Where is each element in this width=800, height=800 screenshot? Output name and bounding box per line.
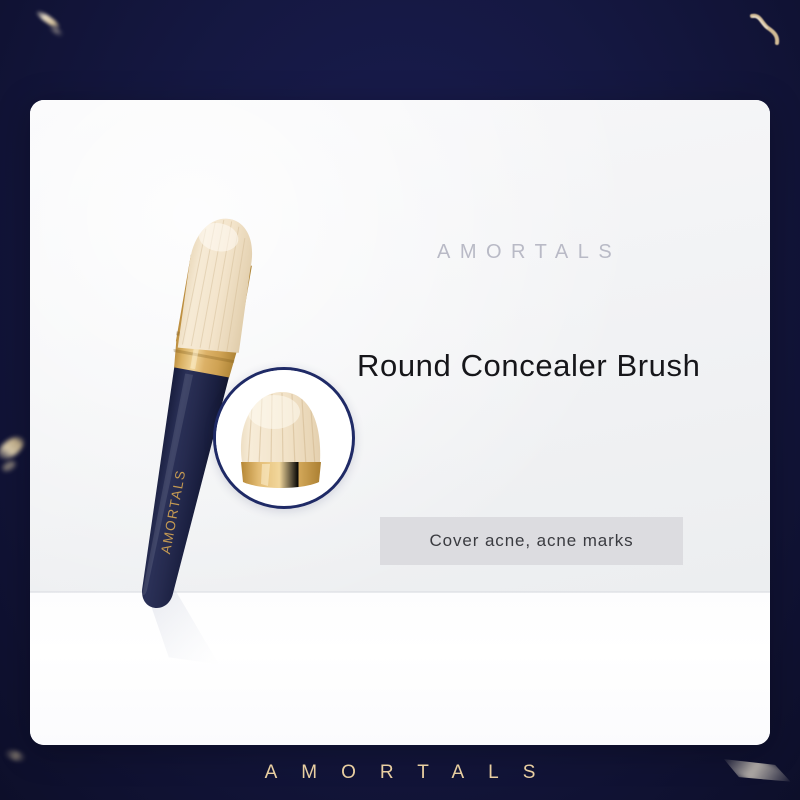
feature-badge-label: Cover acne, acne marks [429, 531, 633, 551]
gold-streak-icon [1, 459, 17, 473]
gold-streak-icon [0, 432, 28, 463]
gold-streak-icon [48, 23, 63, 37]
magnified-detail-circle [213, 367, 355, 509]
card-lower-surface [30, 593, 770, 745]
brand-watermark: AMORTALS [437, 241, 621, 264]
product-title: Round Concealer Brush [357, 348, 700, 384]
footer-brand-strip: AMORTALS [0, 745, 800, 800]
product-card: AMORTALS [30, 100, 770, 745]
gold-streak-icon [35, 9, 62, 31]
product-ad-canvas: AMORTALS [0, 0, 800, 800]
gold-ribbon-icon [748, 12, 782, 46]
feature-badge: Cover acne, acne marks [380, 517, 683, 565]
footer-brand-label: AMORTALS [241, 762, 560, 784]
